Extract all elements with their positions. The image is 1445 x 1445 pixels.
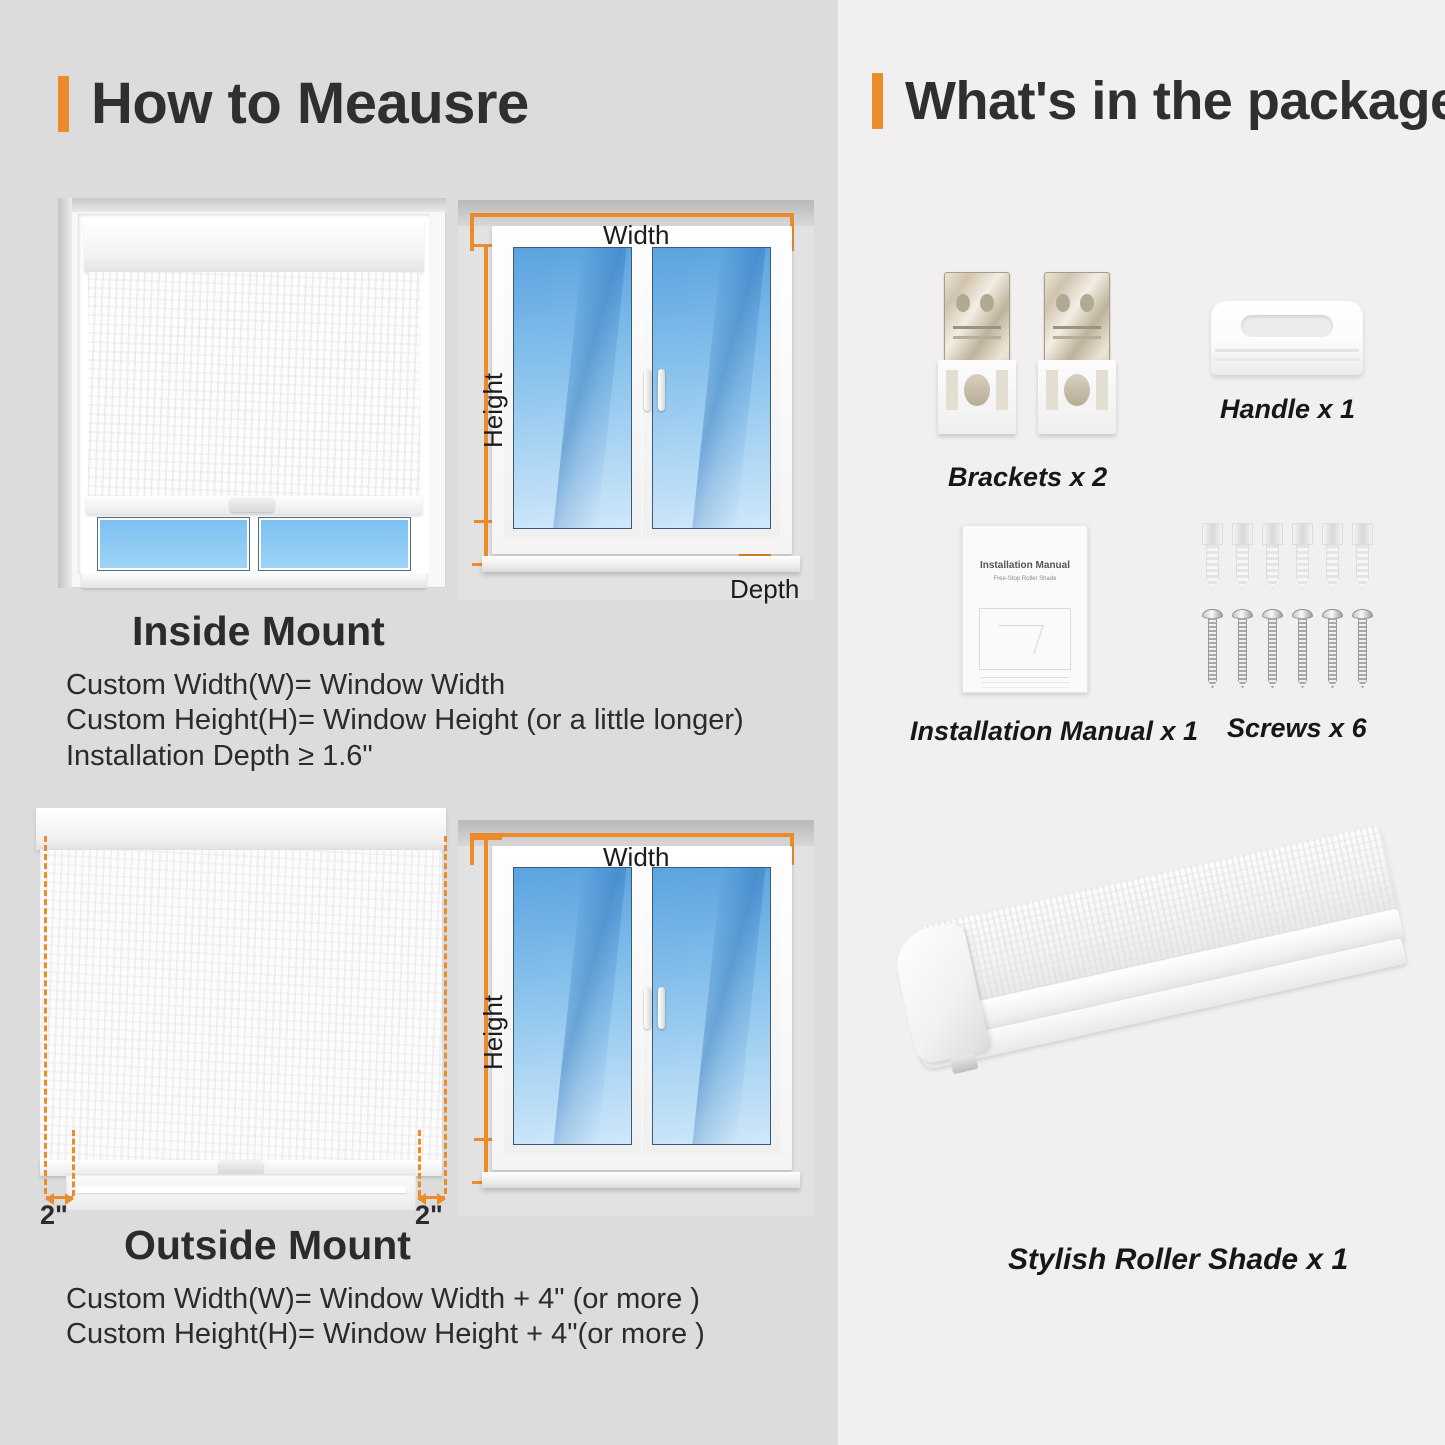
screw-icon bbox=[1322, 609, 1343, 689]
inside-mount-shade-illustration bbox=[58, 198, 446, 588]
window-glass-left bbox=[513, 247, 632, 529]
wall-anchor-icon bbox=[1202, 523, 1223, 589]
shade-pull-tab bbox=[230, 498, 274, 512]
screws-group-icon bbox=[1202, 609, 1373, 689]
package-contents-panel: What's in the package Brackets x 2 Handl… bbox=[838, 0, 1445, 1445]
visible-glass-strip bbox=[98, 518, 410, 570]
width-guide-line-icon bbox=[470, 833, 794, 837]
window-glass-left bbox=[513, 867, 632, 1145]
bracket-plastic-part bbox=[1038, 360, 1116, 434]
window-sashes bbox=[504, 858, 780, 1154]
wall-anchor-icon bbox=[1292, 523, 1313, 589]
outside-window-below bbox=[66, 1174, 416, 1210]
accent-bar-icon bbox=[58, 76, 69, 132]
roller-shade-tube bbox=[891, 824, 1422, 1124]
screw-icon bbox=[1262, 609, 1283, 689]
overhang-arrow-right-icon bbox=[418, 1196, 445, 1199]
inside-mount-spec-line-2: Custom Height(H)= Window Height (or a li… bbox=[66, 703, 744, 738]
handle-label: Handle x 1 bbox=[1220, 394, 1355, 425]
brackets-icon bbox=[938, 272, 1124, 442]
how-to-measure-title: How to Meausre bbox=[91, 70, 529, 137]
handle-slot bbox=[1241, 315, 1333, 337]
screw-icon bbox=[1352, 609, 1373, 689]
window-glass-right bbox=[652, 867, 771, 1145]
handle-body bbox=[1211, 301, 1363, 375]
window-sashes bbox=[504, 238, 780, 538]
overhang-inner-guide-right-icon bbox=[418, 1130, 421, 1196]
wall-anchor-icon bbox=[1232, 523, 1253, 589]
manual-cover-figure bbox=[979, 608, 1071, 670]
label-width: Width bbox=[603, 220, 669, 251]
brackets-label: Brackets x 2 bbox=[948, 462, 1107, 493]
screws-label: Screws x 6 bbox=[1227, 713, 1367, 744]
shade-fabric bbox=[88, 272, 420, 496]
manual-icon: Installation Manual Free-Stop Roller Sha… bbox=[962, 525, 1088, 693]
wall-anchors-group-icon bbox=[1202, 523, 1373, 589]
outside-mount-spec-list: Custom Width(W)= Window Width + 4" (or m… bbox=[66, 1282, 705, 1353]
window-frame bbox=[492, 226, 792, 554]
infographic-page: How to Meausre bbox=[0, 0, 1445, 1445]
manual-cover-title: Installation Manual bbox=[963, 560, 1087, 571]
bracket-1-icon bbox=[938, 272, 1016, 442]
glass-pane-left bbox=[98, 518, 249, 570]
window-handle-right-icon bbox=[658, 369, 665, 411]
screw-icon bbox=[1292, 609, 1313, 689]
outside-mount-spec-line-1: Custom Width(W)= Window Width + 4" (or m… bbox=[66, 1282, 705, 1317]
glass-pane-right bbox=[259, 518, 410, 570]
manual-cover-footer-lines bbox=[981, 677, 1069, 678]
package-title: What's in the package bbox=[905, 70, 1445, 132]
wall-anchor-icon bbox=[1322, 523, 1343, 589]
manual-label: Installation Manual x 1 bbox=[910, 716, 1198, 747]
inside-mount-spec-line-3: Installation Depth ≥ 1.6" bbox=[66, 739, 744, 774]
window-exterior-sill bbox=[482, 556, 800, 572]
outside-mount-spec-line-2: Custom Height(H)= Window Height + 4"(or … bbox=[66, 1317, 705, 1352]
overhang-arrow-left-icon bbox=[46, 1196, 73, 1199]
label-width: Width bbox=[603, 842, 669, 873]
window-frame bbox=[492, 846, 792, 1170]
accent-bar-icon bbox=[872, 73, 883, 129]
height-guide-tick-top-icon bbox=[472, 837, 502, 840]
inside-mount-spec-line-1: Custom Width(W)= Window Width bbox=[66, 668, 744, 703]
window-glass-right bbox=[652, 247, 771, 529]
outside-shade-fabric bbox=[40, 850, 442, 1162]
outside-mount-window-diagram: Width Height bbox=[458, 820, 814, 1216]
inside-mount-title: Inside Mount bbox=[132, 608, 385, 655]
window-sill bbox=[82, 572, 426, 588]
bracket-2-icon bbox=[1038, 272, 1116, 442]
manual-cover-subtitle: Free-Stop Roller Shade bbox=[963, 576, 1087, 582]
label-depth: Depth bbox=[730, 574, 799, 605]
handle-icon bbox=[1211, 301, 1363, 375]
manual-page: Installation Manual Free-Stop Roller Sha… bbox=[962, 525, 1088, 693]
window-handle-right-icon bbox=[658, 987, 665, 1029]
outside-mount-title: Outside Mount bbox=[124, 1222, 411, 1269]
label-height: Height bbox=[478, 995, 509, 1070]
width-guide-line-icon bbox=[470, 213, 794, 217]
screws-icon bbox=[1202, 523, 1382, 695]
screw-icon bbox=[1202, 609, 1223, 689]
window-sash-left bbox=[504, 238, 641, 538]
roller-shade-label: Stylish Roller Shade x 1 bbox=[1008, 1243, 1348, 1277]
bracket-plastic-part bbox=[938, 360, 1016, 434]
overhang-dim-right: 2" bbox=[415, 1200, 443, 1231]
overhang-guide-left-icon bbox=[44, 836, 47, 1194]
window-handle-left-icon bbox=[644, 987, 651, 1029]
screw-icon bbox=[1232, 609, 1253, 689]
how-to-measure-panel: How to Meausre bbox=[0, 0, 838, 1445]
window-exterior-sill bbox=[482, 1172, 800, 1188]
shade-valance bbox=[84, 220, 424, 272]
roller-shade-icon bbox=[906, 886, 1434, 1198]
overhang-guide-right-icon bbox=[444, 836, 447, 1194]
overhang-dim-left: 2" bbox=[40, 1200, 68, 1231]
outside-shade-pull-tab bbox=[219, 1160, 263, 1174]
package-heading: What's in the package bbox=[872, 70, 1445, 132]
outside-mount-shade-illustration bbox=[36, 808, 446, 1208]
wall-anchor-icon bbox=[1352, 523, 1373, 589]
how-to-measure-heading: How to Meausre bbox=[58, 70, 529, 137]
outside-shade-valance bbox=[36, 808, 446, 850]
window-handle-left-icon bbox=[644, 369, 651, 411]
window-sash-left bbox=[504, 858, 641, 1154]
overhang-inner-guide-left-icon bbox=[72, 1130, 75, 1196]
inside-mount-window-diagram: Width Height Depth bbox=[458, 200, 814, 600]
inside-mount-spec-list: Custom Width(W)= Window Width Custom Hei… bbox=[66, 668, 744, 774]
wall-anchor-icon bbox=[1262, 523, 1283, 589]
label-height: Height bbox=[478, 373, 509, 448]
